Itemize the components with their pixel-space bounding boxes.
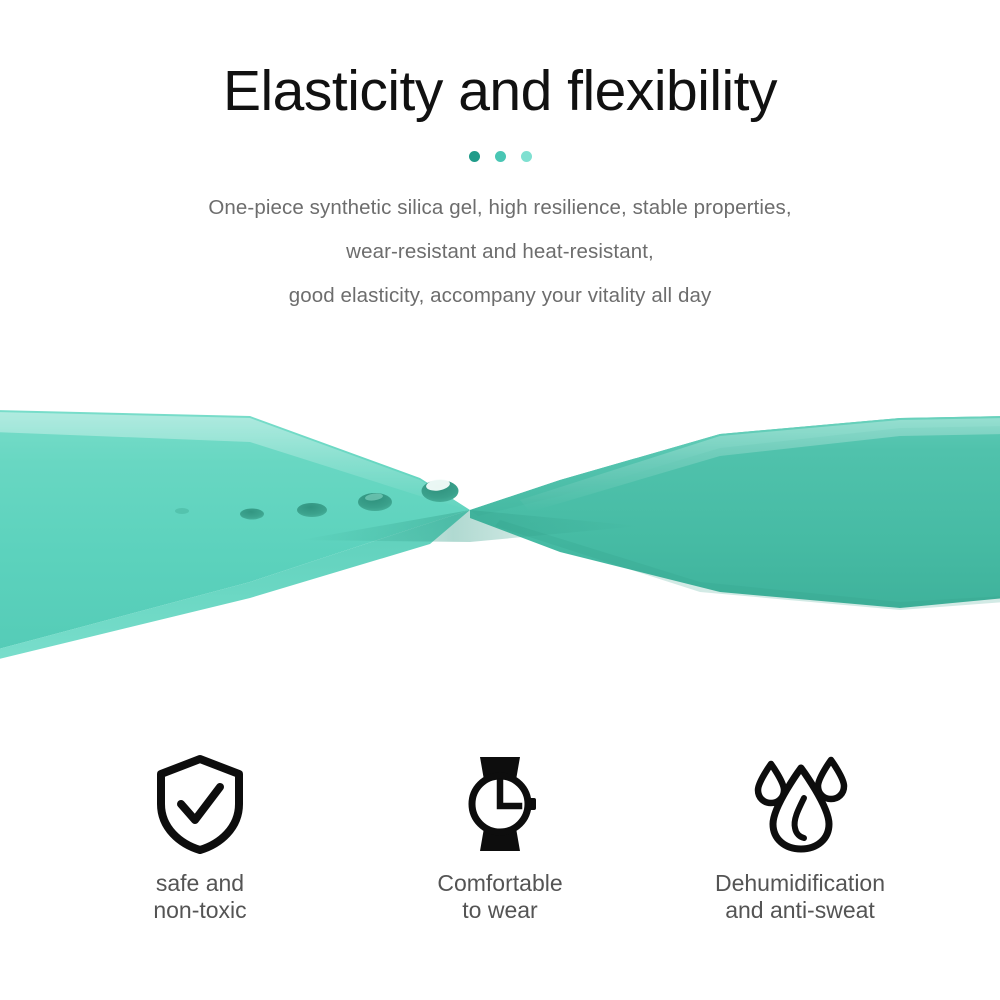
feature-caption-line-1: Comfortable <box>437 870 562 897</box>
divider-dot-3 <box>521 151 532 162</box>
feature-caption: Dehumidification and anti-sweat <box>715 870 885 924</box>
feature-caption-line-1: safe and <box>153 870 246 897</box>
shield-check-icon <box>154 752 246 856</box>
divider-dots <box>0 150 1000 164</box>
subtitle-line-3: good elasticity, accompany your vitality… <box>0 274 1000 318</box>
band-hole-3 <box>297 503 327 517</box>
feature-dehumidification: Dehumidification and anti-sweat <box>650 752 950 924</box>
feature-caption-line-2: non-toxic <box>153 897 246 924</box>
band-hole-1 <box>175 508 189 514</box>
feature-caption-line-2: to wear <box>437 897 562 924</box>
feature-caption: safe and non-toxic <box>153 870 246 924</box>
feature-caption-line-1: Dehumidification <box>715 870 885 897</box>
divider-dot-1 <box>469 151 480 162</box>
feature-caption: Comfortable to wear <box>437 870 562 924</box>
water-drops-icon <box>748 752 852 856</box>
band-hole-2 <box>240 509 264 520</box>
page-title: Elasticity and flexibility <box>0 0 1000 122</box>
product-feature-page: Elasticity and flexibility One-piece syn… <box>0 0 1000 1000</box>
feature-row: safe and non-toxic <box>0 752 1000 924</box>
header-section: Elasticity and flexibility One-piece syn… <box>0 0 1000 318</box>
wristwatch-icon <box>456 752 544 856</box>
twisted-silicone-band-illustration <box>0 330 1000 730</box>
divider-dot-2 <box>495 151 506 162</box>
feature-caption-line-2: and anti-sweat <box>715 897 885 924</box>
subtitle-line-1: One-piece synthetic silica gel, high res… <box>0 186 1000 230</box>
feature-safe-non-toxic: safe and non-toxic <box>50 752 350 924</box>
subtitle-line-2: wear-resistant and heat-resistant, <box>0 230 1000 274</box>
subtitle-block: One-piece synthetic silica gel, high res… <box>0 164 1000 318</box>
feature-comfortable-to-wear: Comfortable to wear <box>350 752 650 924</box>
product-image <box>0 330 1000 730</box>
